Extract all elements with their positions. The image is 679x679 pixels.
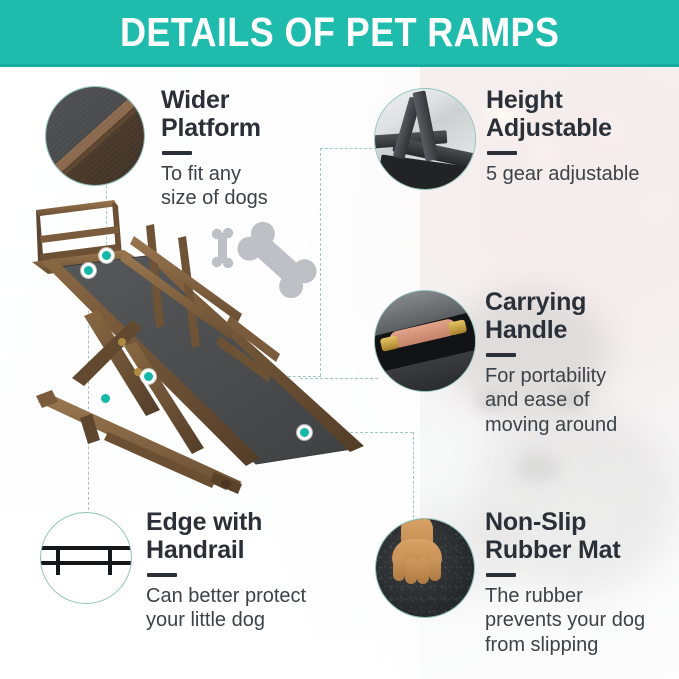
feature-height-adjustable: Height Adjustable 5 gear adjustable	[486, 86, 676, 186]
feature-edge-with-handrail: Edge with Handrail Can better protect yo…	[146, 508, 346, 633]
feature-body: To fit any size of dogs	[161, 162, 336, 211]
banner-bottom-edge	[0, 64, 679, 67]
rubber-mat-paw-closeup-thumbnail[interactable]	[375, 518, 475, 618]
connector-mat-vert	[413, 432, 414, 518]
carrying-handle-closeup-thumbnail[interactable]	[374, 290, 476, 392]
page-title: DETAILS OF PET RAMPS	[120, 9, 559, 56]
divider-rule	[487, 151, 517, 155]
infographic-page: DETAILS OF PET RAMPS	[0, 0, 679, 679]
feature-body: For portability and ease of moving aroun…	[485, 364, 679, 437]
feature-heading: Non-Slip Rubber Mat	[485, 508, 679, 564]
marker-dot-adjuster	[141, 369, 156, 384]
header-banner: DETAILS OF PET RAMPS	[0, 0, 679, 64]
marker-dot-mat-end	[297, 425, 312, 440]
adjuster-knob	[118, 338, 126, 346]
height-bracket-closeup-thumbnail[interactable]	[374, 88, 476, 190]
marker-dot-platform-top	[99, 248, 114, 263]
feature-heading: Edge with Handrail	[146, 508, 346, 564]
feature-body: 5 gear adjustable	[486, 162, 676, 186]
dog-paw	[389, 518, 445, 589]
divider-rule	[486, 573, 516, 577]
feature-body: The rubber prevents your dog from slippi…	[485, 584, 679, 657]
divider-rule	[162, 151, 192, 155]
marker-dot-platform-edge	[81, 263, 96, 278]
feature-heading: Height Adjustable	[486, 86, 676, 142]
divider-rule	[486, 353, 516, 357]
feature-body: Can better protect your little dog	[146, 584, 346, 633]
feature-non-slip-rubber-mat: Non-Slip Rubber Mat The rubber prevents …	[485, 508, 679, 657]
platform-closeup-thumbnail[interactable]	[45, 86, 145, 186]
feature-wider-platform: Wider Platform To fit any size of dogs	[161, 86, 336, 211]
feature-heading: Wider Platform	[161, 86, 336, 142]
handrail-line-drawing-thumbnail[interactable]	[40, 512, 132, 604]
feature-heading: Carrying Handle	[485, 288, 679, 344]
product-illustration	[28, 196, 378, 496]
marker-dot-base	[98, 391, 113, 406]
divider-rule	[147, 573, 177, 577]
feature-carrying-handle: Carrying Handle For portability and ease…	[485, 288, 679, 437]
